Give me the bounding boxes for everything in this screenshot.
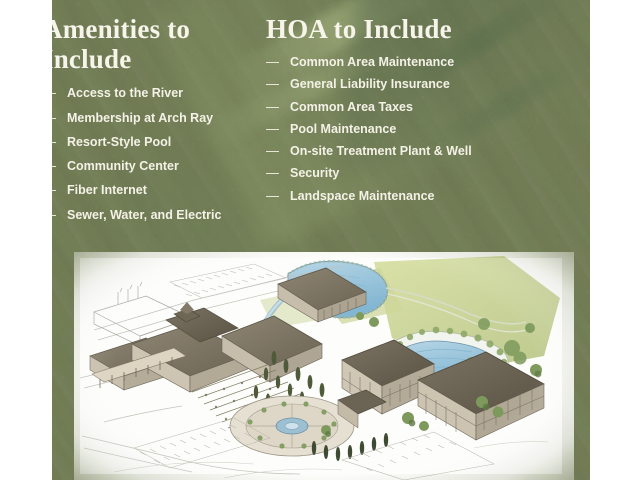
list-item-label: Access to the River [67, 86, 252, 101]
dash-bullet-icon [266, 107, 279, 108]
hoa-list: Common Area Maintenance General Liabilit… [266, 55, 528, 204]
list-item: Community Center [43, 159, 252, 174]
list-item: Sewer, Water, and Electric [43, 208, 252, 223]
right-page-margin [590, 0, 640, 480]
dash-bullet-icon [266, 151, 279, 152]
list-item-label: Fiber Internet [67, 183, 252, 198]
list-item-label: Sewer, Water, and Electric [67, 208, 252, 223]
list-item-label: Pool Maintenance [290, 122, 528, 137]
content-columns: Amenities to Include Access to the River… [0, 0, 538, 250]
list-item: Common Area Taxes [266, 100, 528, 115]
list-item: General Liability Insurance [266, 77, 528, 92]
list-item-label: Security [290, 166, 528, 181]
dash-bullet-icon [266, 129, 279, 130]
dash-bullet-icon [266, 84, 279, 85]
list-item: Access to the River [43, 86, 252, 101]
list-item: Common Area Maintenance [266, 55, 528, 70]
list-item: Security [266, 166, 528, 181]
list-item-label: Resort-Style Pool [67, 135, 252, 150]
list-item-label: On-site Treatment Plant & Well [290, 144, 528, 159]
dash-bullet-icon [266, 196, 279, 197]
list-item: On-site Treatment Plant & Well [266, 144, 528, 159]
list-item-label: Common Area Taxes [290, 100, 528, 115]
site-plan-rendering-container [52, 252, 590, 480]
amenities-list: Access to the River Membership at Arch R… [43, 86, 252, 223]
amenities-heading: Amenities to Include [43, 14, 252, 74]
list-item: Membership at Arch Ray [43, 111, 252, 126]
site-plan-rendering [74, 252, 574, 480]
list-item: Pool Maintenance [266, 122, 528, 137]
hoa-heading: HOA to Include [266, 14, 528, 44]
list-item: Resort-Style Pool [43, 135, 252, 150]
list-item: Fiber Internet [43, 183, 252, 198]
dash-bullet-icon [266, 62, 279, 63]
list-item-label: Community Center [67, 159, 252, 174]
list-item: Landspace Maintenance [266, 189, 528, 204]
hoa-column: HOA to Include Common Area Maintenance G… [258, 0, 538, 250]
list-item-label: Membership at Arch Ray [67, 111, 252, 126]
slide-canvas: Amenities to Include Access to the River… [0, 0, 640, 480]
left-page-margin [0, 0, 52, 480]
list-item-label: Common Area Maintenance [290, 55, 528, 70]
list-item-label: General Liability Insurance [290, 77, 528, 92]
dash-bullet-icon [266, 173, 279, 174]
list-item-label: Landspace Maintenance [290, 189, 528, 204]
